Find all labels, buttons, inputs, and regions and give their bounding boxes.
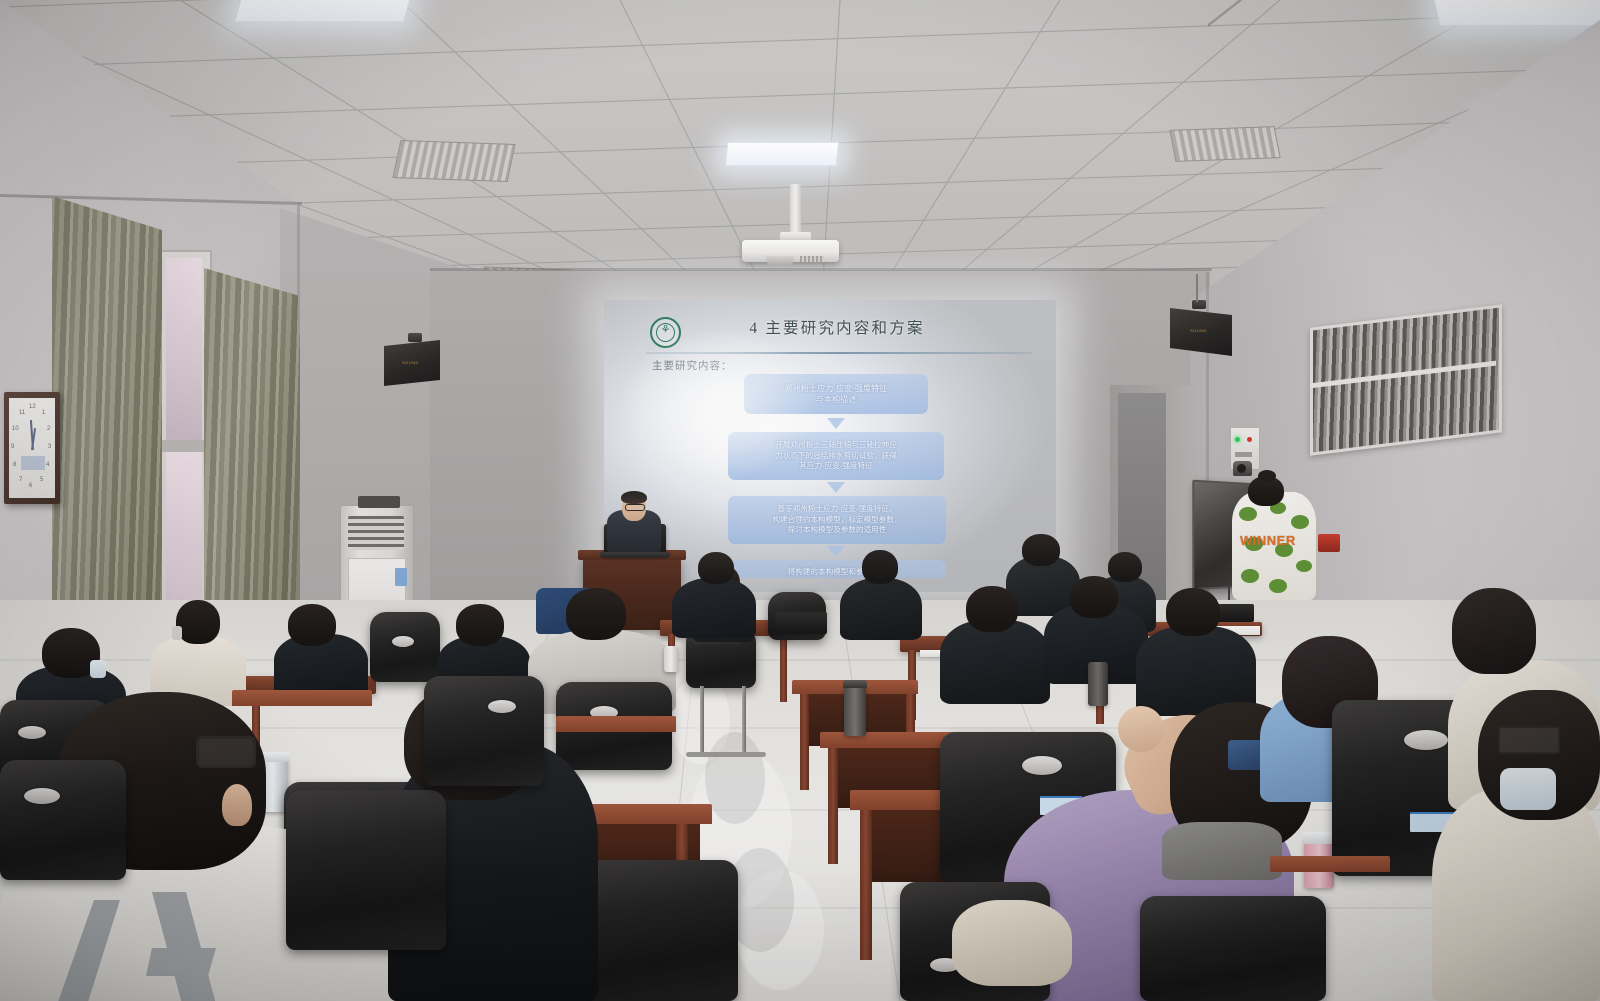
chair-asset-label <box>1022 756 1062 775</box>
flow-box-1-line-1: 郑州粉土应力-应变-强度特征 <box>785 383 888 394</box>
speaker-cable-right <box>1196 274 1198 302</box>
lecture-chair <box>1140 896 1326 1001</box>
flow-box-3: 基于郑州粉土应力-应变-强度特征， 构建合理的本构模型，标定模型参数， 探讨本构… <box>728 496 946 544</box>
window-mullion-1 <box>162 440 206 452</box>
slide-subhead: 主要研究内容： <box>652 358 733 373</box>
lecture-chair <box>424 676 544 786</box>
ceiling-light-2 <box>725 142 840 166</box>
flow-arrow-2-icon <box>827 482 845 493</box>
audience-head <box>288 604 336 646</box>
seal-glyph: ⚘ <box>652 325 679 336</box>
audience-body-suited <box>672 578 756 638</box>
wall-speaker-right-top <box>1192 300 1206 309</box>
jacket-text-label: WINNER <box>1240 533 1296 548</box>
slide-title-rule <box>646 352 1032 354</box>
audience-head <box>966 586 1018 632</box>
flow-box-2-line-3: 其应力-应变-强度特征 <box>799 461 872 472</box>
projector-mount-pole <box>790 184 801 234</box>
chair-leg-chrome <box>700 686 704 752</box>
ceiling-air-diffuser-4 <box>1169 126 1281 162</box>
projector-lens <box>766 256 794 265</box>
face-mask <box>1500 768 1556 810</box>
audience-glasses <box>1498 726 1560 754</box>
red-desk-object <box>1318 534 1340 552</box>
thermos-bottle <box>1088 662 1108 706</box>
ceiling-wall-joint-front <box>430 268 1212 271</box>
clock-center-graphic <box>21 456 45 470</box>
ceiling-light-3 <box>1433 0 1600 26</box>
lecture-chair <box>370 612 440 682</box>
air-conditioner-vent <box>348 516 404 550</box>
status-led-red-icon <box>1247 437 1252 442</box>
wall-speaker-right: SOUND <box>1170 308 1232 356</box>
chair-asset-label <box>24 788 60 804</box>
audience-head <box>1452 588 1536 674</box>
flow-box-3-line-1: 基于郑州粉土应力-应变-强度特征， <box>778 504 897 515</box>
audience-body <box>940 620 1050 704</box>
chair-asset-label <box>392 636 414 647</box>
ceiling-air-diffuser-1 <box>392 140 515 182</box>
flow-box-2-line-2: 力状态下的固结排水剪切试验，获得 <box>775 451 897 462</box>
desk-leg <box>780 634 787 702</box>
presenter-glasses <box>625 504 645 511</box>
air-conditioner-top-object <box>358 496 400 508</box>
wall-clock: 12 1 2 3 4 5 6 7 8 9 10 11 <box>4 392 60 504</box>
wall-speaker-left-top <box>408 333 422 342</box>
hair-tie <box>172 626 182 640</box>
lecture-chair <box>0 760 126 880</box>
flow-box-3-line-3: 探讨本构模型及参数的适用性 <box>788 525 887 536</box>
desk-monitor <box>775 612 827 634</box>
shirt-graphic <box>48 884 278 1001</box>
audience-head <box>1022 534 1060 566</box>
projector-vent <box>800 256 824 262</box>
thermos-cap <box>1302 832 1336 844</box>
lecture-room-photo: 12 1 2 3 4 5 6 7 8 9 10 11 SOUND SOUND <box>0 0 1600 1001</box>
clock-face: 12 1 2 3 4 5 6 7 8 9 10 11 <box>9 398 55 498</box>
flow-box-1: 郑州粉土应力-应变-强度特征 与本构描述 <box>744 374 928 414</box>
wall-speaker-left: SOUND <box>384 340 440 386</box>
window-pane-1a <box>166 258 202 440</box>
audience-head <box>1108 552 1142 582</box>
thermos-cap <box>843 680 867 688</box>
desk-leg <box>860 810 872 960</box>
chair-asset-label <box>18 726 46 739</box>
university-seal-icon: ⚘ <box>650 317 681 348</box>
audience-head <box>456 604 504 646</box>
presenter-hair <box>621 491 647 504</box>
presentation-slide: ⚘ 4 主要研究内容和方案 主要研究内容： 郑州粉土应力-应变-强度特征 与本构… <box>612 312 1046 578</box>
flow-box-3-line-2: 构建合理的本构模型，标定模型参数， <box>772 515 901 526</box>
lecture-chair <box>286 790 446 950</box>
desk-leg <box>828 748 838 864</box>
flow-box-1-line-2: 与本构描述 <box>816 394 856 405</box>
audience-body-foreground <box>1432 788 1600 1001</box>
audience-head <box>1070 576 1118 618</box>
ptz-camera-lens-icon <box>1237 464 1246 473</box>
audience-glasses <box>196 736 256 768</box>
flow-box-4: 将构建的本构模型和参数嵌入 PLAXIS岩土工程有限元分析软件， 模拟郑州粉土的… <box>728 560 946 578</box>
audience-head <box>698 552 734 584</box>
chair-asset-label <box>488 700 516 713</box>
audience-head <box>862 550 898 584</box>
audience-head <box>1166 588 1220 636</box>
air-conditioner-tag <box>395 568 407 586</box>
presenter-laptop-base <box>600 552 670 558</box>
ceiling-light-1 <box>234 0 412 22</box>
flow-box-2: 开展郑州粉土三轴压缩与三轴拉伸应 力状态下的固结排水剪切试验，获得 其应力-应变… <box>728 432 944 480</box>
lecture-desk-foreground-right <box>1270 856 1390 872</box>
flow-arrow-3-icon <box>827 546 845 557</box>
hand <box>1118 706 1164 752</box>
speaker-badge-left-label: SOUND <box>402 360 419 365</box>
audience-body <box>840 578 922 640</box>
flow-arrow-1-icon <box>827 418 845 429</box>
chair-asset-label <box>1404 730 1448 750</box>
lecture-desk-left-nearest <box>556 716 676 732</box>
audience-head <box>566 588 626 640</box>
plush-item <box>952 900 1072 986</box>
desk-leg <box>800 694 809 790</box>
face-mask <box>90 660 106 678</box>
chair-base <box>686 752 766 757</box>
lecture-desk-left-near <box>232 690 372 706</box>
water-bottle <box>664 646 678 672</box>
flow-box-2-line-1: 开展郑州粉土三轴压缩与三轴拉伸应 <box>775 440 897 451</box>
chair-leg-chrome <box>742 686 746 756</box>
control-panel-slot[interactable] <box>1235 452 1252 457</box>
power-led-green-icon <box>1235 437 1240 442</box>
ear <box>222 784 252 826</box>
audience-head <box>176 600 220 644</box>
thermos-bottle <box>844 686 866 736</box>
hair-bun <box>1258 470 1276 482</box>
slide-title: 4 主要研究内容和方案 <box>692 316 982 338</box>
speaker-badge-right-label: SOUND <box>1190 328 1207 333</box>
scarf <box>1162 822 1282 880</box>
